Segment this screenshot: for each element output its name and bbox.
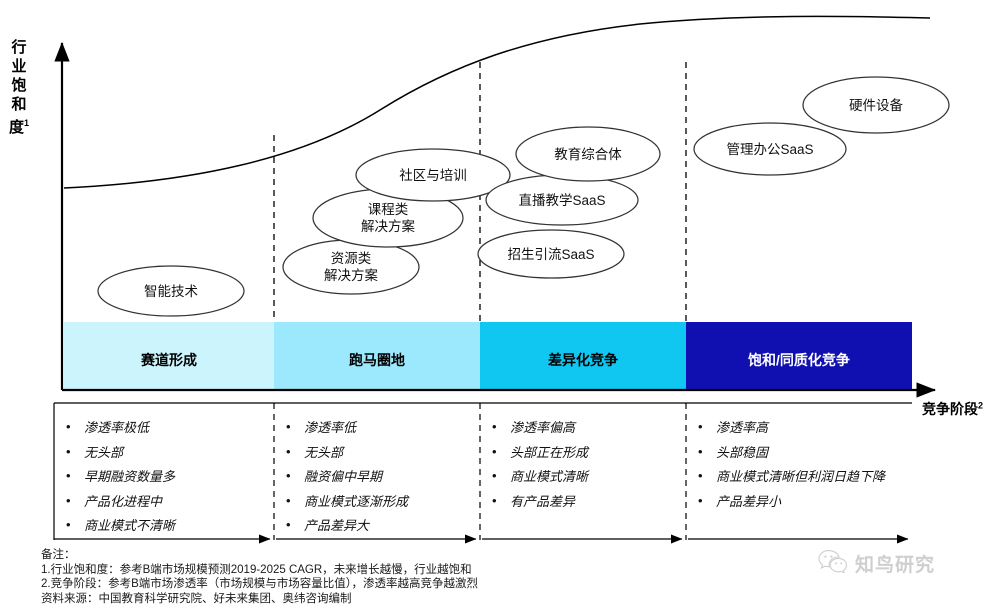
bubble-line-1: 社区与培训 xyxy=(356,167,510,184)
stage-details-column-2: 渗透率低无头部融资偏中早期商业模式逐渐形成产品差异大 xyxy=(282,418,477,541)
footnotes: 备注： 1.行业饱和度：参考B端市场规模预测2019-2025 CAGR，未来增… xyxy=(41,548,478,606)
bullet-list: 渗透率极低无头部早期融资数量多产品化进程中商业模式不清晰 xyxy=(62,418,267,537)
list-item: 无头部 xyxy=(62,443,267,464)
saturation-curve xyxy=(64,16,930,188)
bubble-line-1: 智能技术 xyxy=(98,283,244,300)
bubble-line-1: 硬件设备 xyxy=(803,97,949,114)
list-item: 头部稳固 xyxy=(694,443,906,464)
list-item: 渗透率极低 xyxy=(62,418,267,439)
wechat-icon xyxy=(818,549,848,578)
bubble-label-yingjian: 硬件设备 xyxy=(803,97,949,114)
band-label-stage-3: 差异化竞争 xyxy=(480,350,686,370)
bubble-label-kechenglei: 课程类 解决方案 xyxy=(313,201,463,235)
list-item: 无头部 xyxy=(282,443,477,464)
list-item: 渗透率偏高 xyxy=(488,418,683,439)
list-item: 产品差异小 xyxy=(694,492,906,513)
bubble-label-zhibosaas: 直播教学SaaS xyxy=(486,192,638,209)
bubble-label-jiaoyuzongheti: 教育综合体 xyxy=(516,146,660,163)
list-item: 融资偏中早期 xyxy=(282,467,477,488)
bullet-list: 渗透率低无头部融资偏中早期商业模式逐渐形成产品差异大 xyxy=(282,418,477,537)
list-item: 商业模式清晰 xyxy=(488,467,683,488)
list-item: 渗透率低 xyxy=(282,418,477,439)
list-item: 有产品差异 xyxy=(488,492,683,513)
bubble-line-2: 解决方案 xyxy=(313,218,463,235)
stage-details-column-4: 渗透率高头部稳固商业模式清晰但利润日趋下降产品差异小 xyxy=(694,418,906,516)
stage-details-column-3: 渗透率偏高头部正在形成商业模式清晰有产品差异 xyxy=(488,418,683,516)
bubble-label-ziyuanlei: 资源类 解决方案 xyxy=(283,250,419,284)
bubble-label-shequpeixun: 社区与培训 xyxy=(356,167,510,184)
list-item: 商业模式不清晰 xyxy=(62,516,267,537)
bubble-line-1: 资源类 xyxy=(283,250,419,267)
footnote-heading: 备注： xyxy=(41,548,478,563)
list-item: 产品差异大 xyxy=(282,516,477,537)
bubble-line-1: 课程类 xyxy=(313,201,463,218)
list-item: 商业模式清晰但利润日趋下降 xyxy=(694,467,906,488)
list-item: 渗透率高 xyxy=(694,418,906,439)
list-item: 产品化进程中 xyxy=(62,492,267,513)
band-label-stage-1: 赛道形成 xyxy=(64,350,274,370)
bubble-label-guanlisaas: 管理办公SaaS xyxy=(694,141,846,158)
bubble-line-1: 直播教学SaaS xyxy=(486,192,638,209)
watermark: 知鸟研究 xyxy=(818,549,935,578)
list-item: 头部正在形成 xyxy=(488,443,683,464)
stage-details-column-1: 渗透率极低无头部早期融资数量多产品化进程中商业模式不清晰 xyxy=(62,418,267,541)
x-axis-footnote-marker: 2 xyxy=(978,400,983,410)
x-axis-label: 竞争阶段2 xyxy=(922,399,983,419)
bubble-label-zhinengjishu: 智能技术 xyxy=(98,283,244,300)
bullet-list: 渗透率高头部稳固商业模式清晰但利润日趋下降产品差异小 xyxy=(694,418,906,512)
bubble-label-zhaoshengsaas: 招生引流SaaS xyxy=(478,246,624,263)
bubble-line-1: 招生引流SaaS xyxy=(478,246,624,263)
bullet-list: 渗透率偏高头部正在形成商业模式清晰有产品差异 xyxy=(488,418,683,512)
band-label-stage-4: 饱和/同质化竞争 xyxy=(686,350,912,370)
list-item: 早期融资数量多 xyxy=(62,467,267,488)
footnote-line-2: 2.竞争阶段：参考B端市场渗透率（市场规模与市场容量比值），渗透率越高竞争越激烈 xyxy=(41,577,478,592)
list-item: 商业模式逐渐形成 xyxy=(282,492,477,513)
x-axis-label-text: 竞争阶段 xyxy=(922,401,978,417)
bubble-line-1: 管理办公SaaS xyxy=(694,141,846,158)
y-axis-label: 行业饱和度1 xyxy=(6,38,32,137)
bubble-line-2: 解决方案 xyxy=(283,267,419,284)
bubble-line-1: 教育综合体 xyxy=(516,146,660,163)
footnote-line-1: 1.行业饱和度：参考B端市场规模预测2019-2025 CAGR，未来增长越慢，… xyxy=(41,563,478,578)
band-label-stage-2: 跑马圈地 xyxy=(274,350,480,370)
diagram-canvas: 行业饱和度1 竞争阶段2 赛道形成 跑马圈地 差异化竞争 饱和/同质化竞争 智能… xyxy=(0,0,1000,604)
watermark-text: 知鸟研究 xyxy=(855,550,935,577)
y-axis-footnote-marker: 1 xyxy=(24,118,29,128)
